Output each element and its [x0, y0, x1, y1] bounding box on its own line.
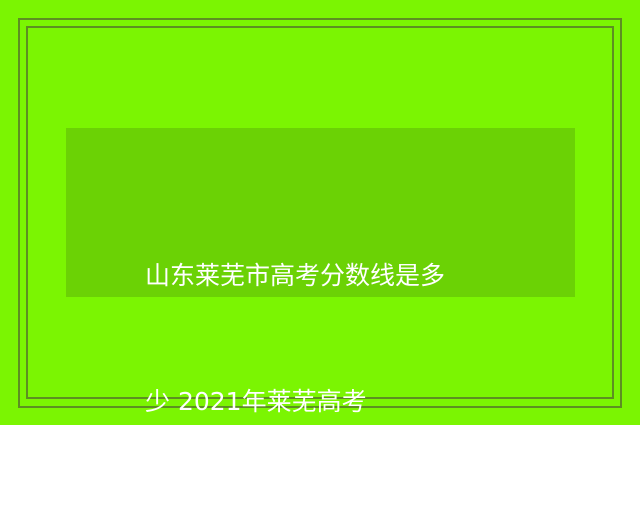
headline-line-1: 山东莱芜市高考分数线是多	[145, 255, 565, 297]
headline-panel: 山东莱芜市高考分数线是多 少 2021年莱芜高考	[66, 128, 575, 297]
image-canvas: 山东莱芜市高考分数线是多 少 2021年莱芜高考	[0, 0, 640, 425]
headline-text: 山东莱芜市高考分数线是多 少 2021年莱芜高考	[145, 171, 565, 507]
headline-line-2: 少 2021年莱芜高考	[145, 381, 565, 423]
